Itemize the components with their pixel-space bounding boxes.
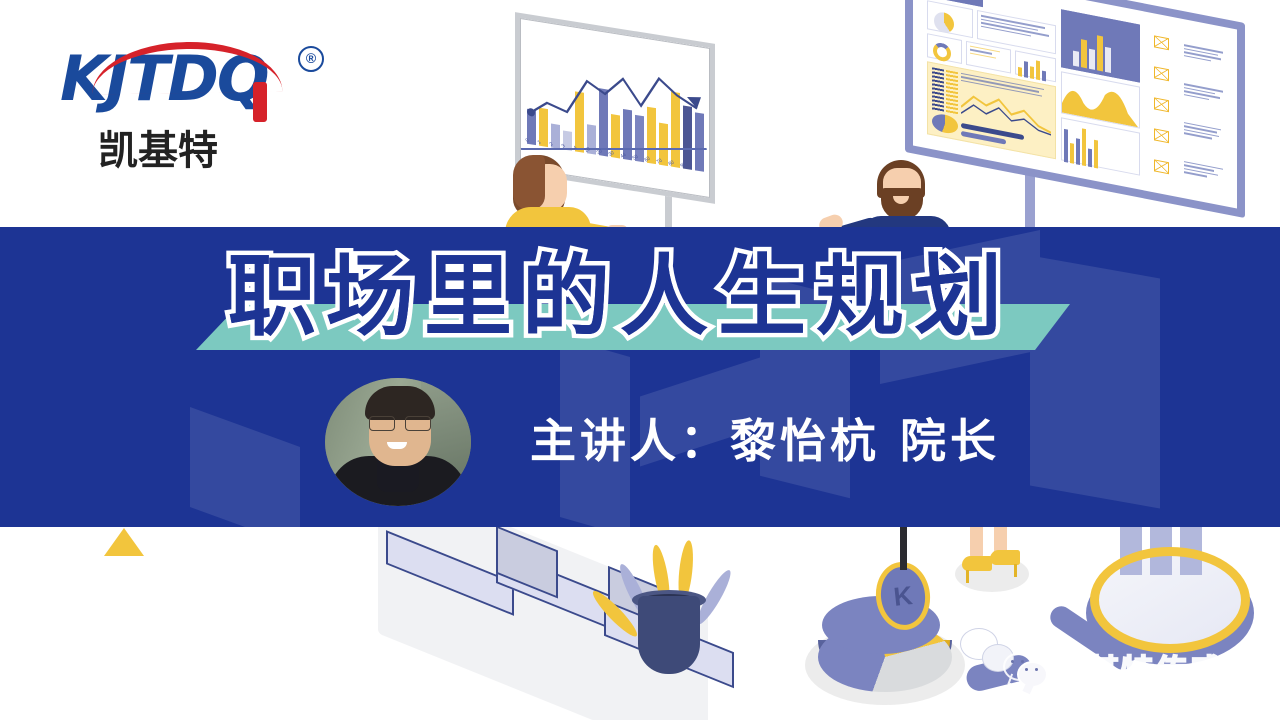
wechat-watermark: 凯基特传感器 xyxy=(1003,645,1257,693)
watermark-text: 凯基特传感器 xyxy=(1053,645,1257,693)
wechat-bubble-front xyxy=(1017,661,1048,688)
shoe-heel-right xyxy=(1014,564,1017,577)
shoe-right xyxy=(990,550,1020,565)
envelope-icon xyxy=(1154,66,1169,81)
widget-lines-2 xyxy=(966,41,1011,74)
ghost-shape-6 xyxy=(190,407,300,527)
wechat-dot xyxy=(1025,668,1028,671)
envelope-icon xyxy=(1154,128,1169,143)
logo-chinese-name: 凯基特 xyxy=(98,118,218,176)
slide-canvas: K 01234102030445060708090 xyxy=(0,0,1280,720)
widget-donut-2 xyxy=(927,33,962,64)
speaker-line: 主讲人：黎怡杭 院长 xyxy=(530,405,1000,471)
wechat-dot xyxy=(1011,660,1014,663)
widget-text-list xyxy=(1184,33,1223,192)
brand-logo: KJTDQ ® 凯基特 xyxy=(60,30,330,155)
magnifier-arrow-icon xyxy=(104,528,144,556)
wechat-dot xyxy=(1021,660,1024,663)
shoe-left xyxy=(962,556,992,571)
logo-red-accent xyxy=(253,82,267,122)
plant-pot xyxy=(638,596,700,674)
envelope-icon xyxy=(1154,35,1169,50)
avatar-glasses-icon xyxy=(369,416,431,429)
avatar-hair xyxy=(365,386,435,420)
widget-bars-1 xyxy=(1015,50,1056,82)
wechat-icon xyxy=(1003,652,1047,686)
widget-blue-chart xyxy=(1061,9,1140,82)
shoe-heel-left xyxy=(966,570,969,583)
registered-trademark-icon: ® xyxy=(298,46,324,72)
wechat-dot xyxy=(1035,668,1038,671)
slide-title: 职场里的人生规划 xyxy=(228,243,1128,353)
widget-donut-1 xyxy=(927,1,973,38)
speaker-avatar xyxy=(325,378,471,506)
envelope-icon xyxy=(1154,159,1169,174)
widget-envelope-list xyxy=(1145,26,1179,184)
magnifier-ring xyxy=(1090,547,1250,653)
woman-hair-front xyxy=(513,155,545,210)
envelope-icon xyxy=(1154,97,1169,112)
